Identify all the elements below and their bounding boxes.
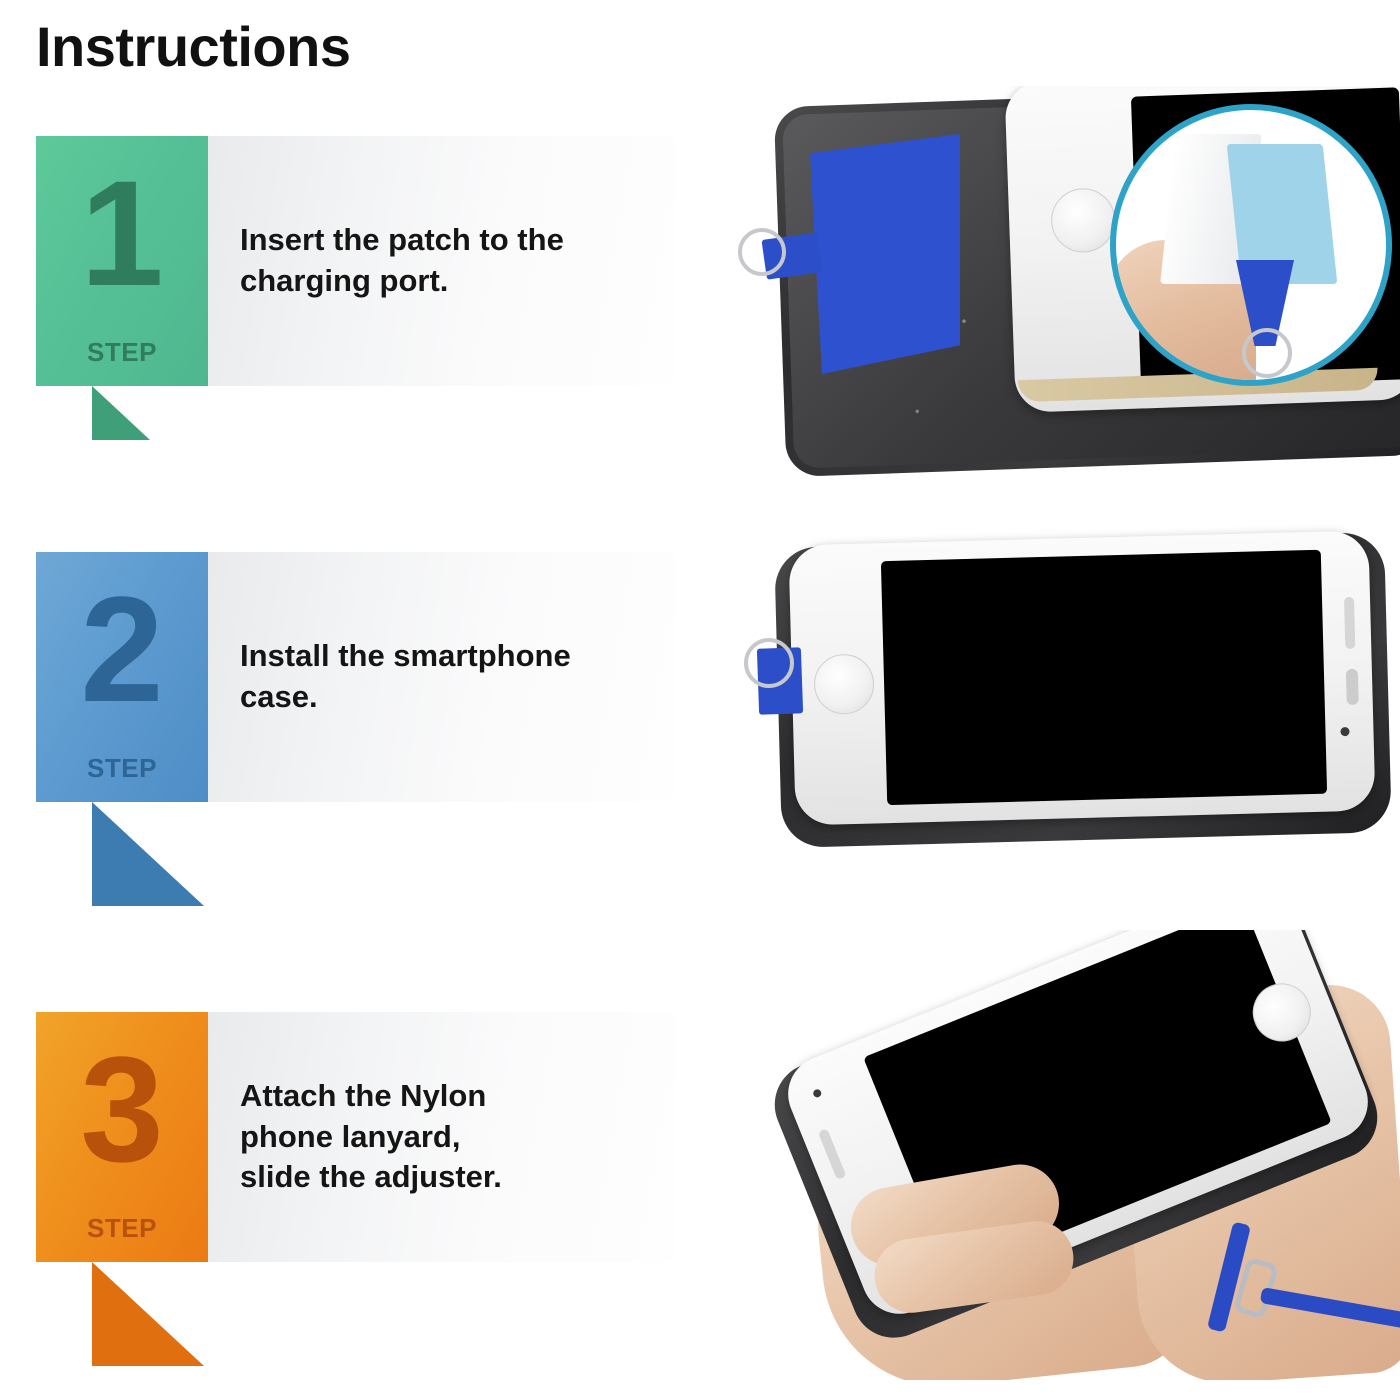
step-badge-tail-3 (92, 1262, 204, 1366)
step-text-2: Install the smartphone case. (208, 636, 589, 718)
step-number-1: 1 (36, 158, 208, 308)
camera-2 (1340, 727, 1349, 736)
step-image-2 (700, 500, 1400, 920)
page-title: Instructions (36, 14, 350, 79)
home-button-1 (1050, 187, 1116, 253)
blue-patch (810, 134, 960, 374)
step-badge-2: 2 STEP (36, 552, 208, 802)
step-image-1 (700, 86, 1400, 496)
step-row-3: 3 STEP Attach the Nylon phone lanyard, s… (36, 1012, 676, 1262)
step-image-3 (700, 930, 1400, 1380)
side-button-2 (1346, 669, 1359, 705)
d-ring-in-callout (1242, 328, 1292, 378)
sim-tray-2 (1344, 597, 1355, 649)
step-badge-tail-2 (92, 802, 204, 906)
step-label-2: STEP (36, 753, 208, 784)
white-phone-2 (788, 530, 1375, 825)
d-ring-2 (744, 638, 794, 688)
step-badge-3: 3 STEP (36, 1012, 208, 1262)
callout-circle-1 (1110, 104, 1392, 386)
instructions-page: Instructions 1 STEP Insert the patch to … (0, 0, 1400, 1400)
step-label-1: STEP (36, 337, 208, 368)
step-number-3: 3 (36, 1034, 208, 1184)
step-text-panel-3: Attach the Nylon phone lanyard, slide th… (208, 1012, 676, 1262)
home-button-2 (813, 653, 875, 715)
step-text-panel-1: Insert the patch to the charging port. (208, 136, 676, 386)
step-badge-1: 1 STEP (36, 136, 208, 386)
step-text-3: Attach the Nylon phone lanyard, slide th… (208, 1076, 520, 1199)
step-label-3: STEP (36, 1213, 208, 1244)
sim-tray-3 (818, 1128, 847, 1180)
step-number-2: 2 (36, 574, 208, 724)
step-row-1: 1 STEP Insert the patch to the charging … (36, 136, 676, 386)
step-row-2: 2 STEP Install the smartphone case. (36, 552, 676, 802)
step-badge-tail-1 (92, 386, 150, 440)
step-text-1: Insert the patch to the charging port. (208, 220, 582, 302)
phone-screen-2 (881, 550, 1327, 805)
d-ring-1 (738, 228, 786, 276)
camera-3 (812, 1088, 822, 1098)
step-text-panel-2: Install the smartphone case. (208, 552, 676, 802)
